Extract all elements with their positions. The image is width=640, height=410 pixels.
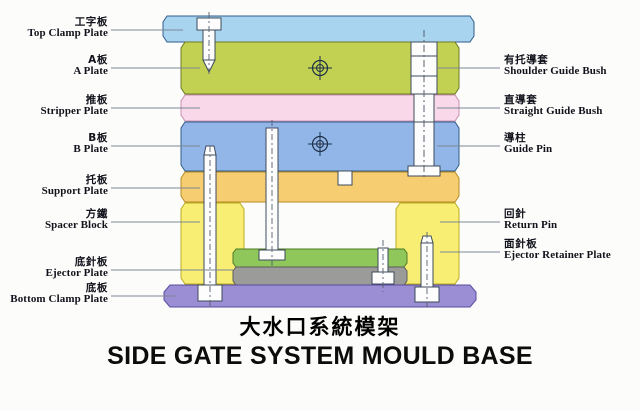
mould-base-diagram-page: 工字板 Top Clamp Plate A板 A Plate 推板 Stripp… (0, 0, 640, 410)
label-en: Stripper Plate (0, 106, 108, 118)
label-en: A Plate (0, 66, 108, 78)
label-en: B Plate (0, 144, 108, 156)
label-en: Return Pin (504, 220, 557, 232)
title-english: SIDE GATE SYSTEM MOULD BASE (0, 341, 640, 371)
label-guide-pin: 導柱 Guide Pin (504, 133, 552, 156)
label-en: Guide Pin (504, 144, 552, 156)
label-ejector-retainer-plate: 面針板 Ejector Retainer Plate (504, 239, 611, 262)
label-en: Ejector Plate (0, 268, 108, 280)
label-en: Straight Guide Bush (504, 106, 602, 118)
label-return-pin: 回針 Return Pin (504, 209, 557, 232)
label-en: Shoulder Guide Bush (504, 66, 607, 78)
label-bottom-clamp-plate: 底板 Bottom Clamp Plate (0, 283, 108, 306)
label-en: Ejector Retainer Plate (504, 250, 611, 262)
label-straight-guide-bush: 直導套 Straight Guide Bush (504, 95, 602, 118)
label-spacer-block: 方鐵 Spacer Block (0, 209, 108, 232)
label-en: Bottom Clamp Plate (0, 294, 108, 306)
label-b-plate: B板 B Plate (0, 133, 108, 156)
diagram-title: 大水口系統模架 SIDE GATE SYSTEM MOULD BASE (0, 314, 640, 371)
cap-screw-bottom-left (338, 171, 352, 185)
label-ejector-plate: 底針板 Ejector Plate (0, 257, 108, 280)
label-shoulder-guide-bush: 有托導套 Shoulder Guide Bush (504, 55, 607, 78)
label-stripper-plate: 推板 Stripper Plate (0, 95, 108, 118)
label-en: Spacer Block (0, 220, 108, 232)
label-top-clamp-plate: 工字板 Top Clamp Plate (0, 17, 108, 40)
title-chinese: 大水口系統模架 (0, 314, 640, 340)
label-en: Top Clamp Plate (0, 28, 108, 40)
label-a-plate: A板 A Plate (0, 55, 108, 78)
label-support-plate: 托板 Support Plate (0, 175, 108, 198)
label-en: Support Plate (0, 186, 108, 198)
